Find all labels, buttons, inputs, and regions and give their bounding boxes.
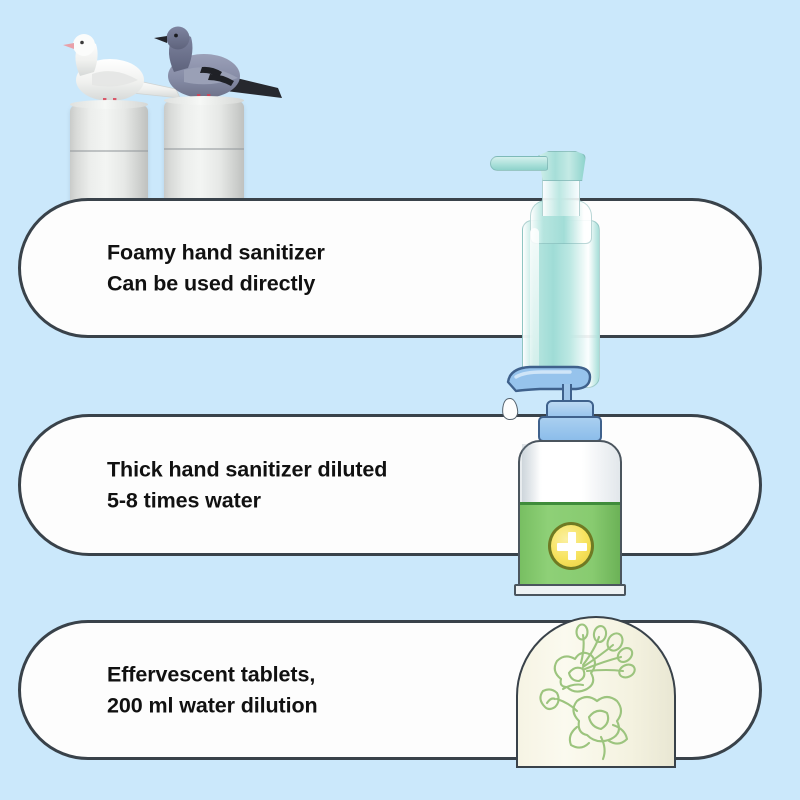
feature-capsule-thick: Thick hand sanitizer diluted 5-8 times w… [18, 414, 762, 556]
dispenser-cylinder [70, 104, 148, 212]
cylinder-top-rim [70, 100, 148, 109]
cylinder-seam [70, 150, 148, 152]
figurine-gray-pigeon [150, 22, 300, 127]
feature-label-effervescent: Effervescent tablets, 200 ml water dilut… [107, 659, 318, 720]
product-infographic-poster: Foamy hand sanitizer Can be used directl… [0, 0, 800, 800]
feature-label-foamy: Foamy hand sanitizer Can be used directl… [107, 237, 325, 298]
soap-pump-stem [562, 384, 572, 408]
cylinder-top-rim [164, 96, 244, 105]
dispenser-cylinder [164, 100, 244, 210]
soap-pump-handle-icon [500, 364, 596, 394]
feature-capsule-effervescent: Effervescent tablets, 200 ml water dilut… [18, 620, 762, 760]
feature-capsule-foamy: Foamy hand sanitizer Can be used directl… [18, 198, 762, 338]
soap-bottle-base [514, 584, 626, 596]
hero-photo-area [0, 0, 800, 200]
feature-label-thick: Thick hand sanitizer diluted 5-8 times w… [107, 454, 387, 515]
cylinder-seam [164, 148, 244, 150]
